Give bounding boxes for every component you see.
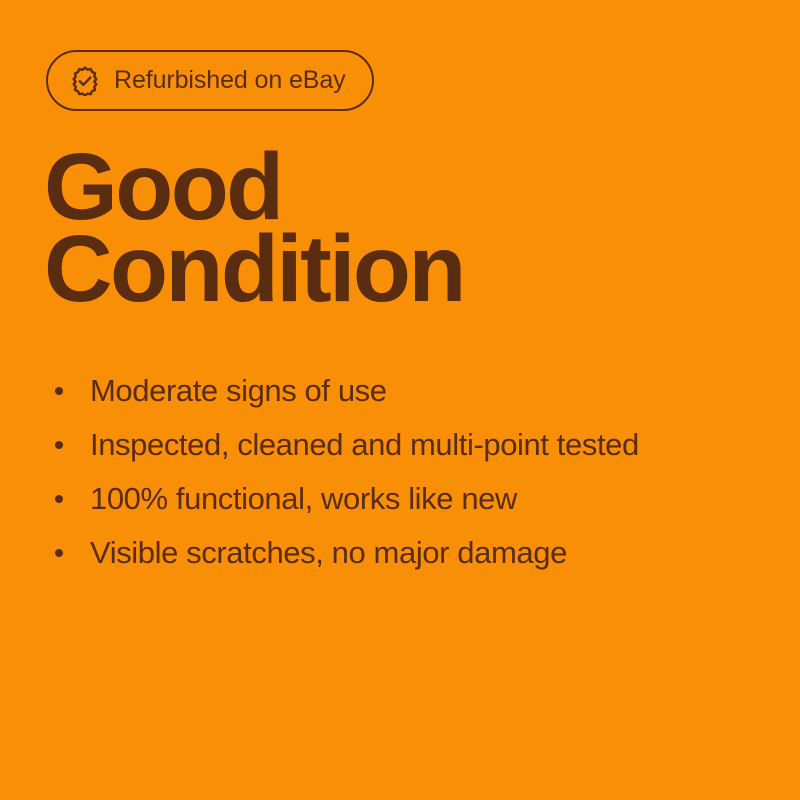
list-item: Inspected, cleaned and multi-point teste…: [52, 418, 639, 472]
bullet-dot-icon: [55, 387, 63, 395]
bullet-dot-icon: [55, 549, 63, 557]
list-item: Visible scratches, no major damage: [52, 526, 639, 580]
refurbished-condition-card: Refurbished on eBay Good Condition Moder…: [0, 0, 800, 800]
refurbished-badge-label: Refurbished on eBay: [114, 68, 346, 93]
verified-rosette-check-icon: [70, 66, 100, 96]
list-item-label: Inspected, cleaned and multi-point teste…: [90, 426, 639, 464]
list-item: Moderate signs of use: [52, 364, 639, 418]
list-item: 100% functional, works like new: [52, 472, 639, 526]
page-title-line-2: Condition: [44, 228, 464, 310]
list-item-label: 100% functional, works like new: [90, 480, 517, 518]
bullet-dot-icon: [55, 495, 63, 503]
list-item-label: Visible scratches, no major damage: [90, 534, 567, 572]
bullet-dot-icon: [55, 441, 63, 449]
page-title: Good Condition: [44, 146, 464, 310]
condition-feature-list: Moderate signs of use Inspected, cleaned…: [52, 364, 639, 580]
list-item-label: Moderate signs of use: [90, 372, 387, 410]
refurbished-badge[interactable]: Refurbished on eBay: [46, 50, 374, 111]
